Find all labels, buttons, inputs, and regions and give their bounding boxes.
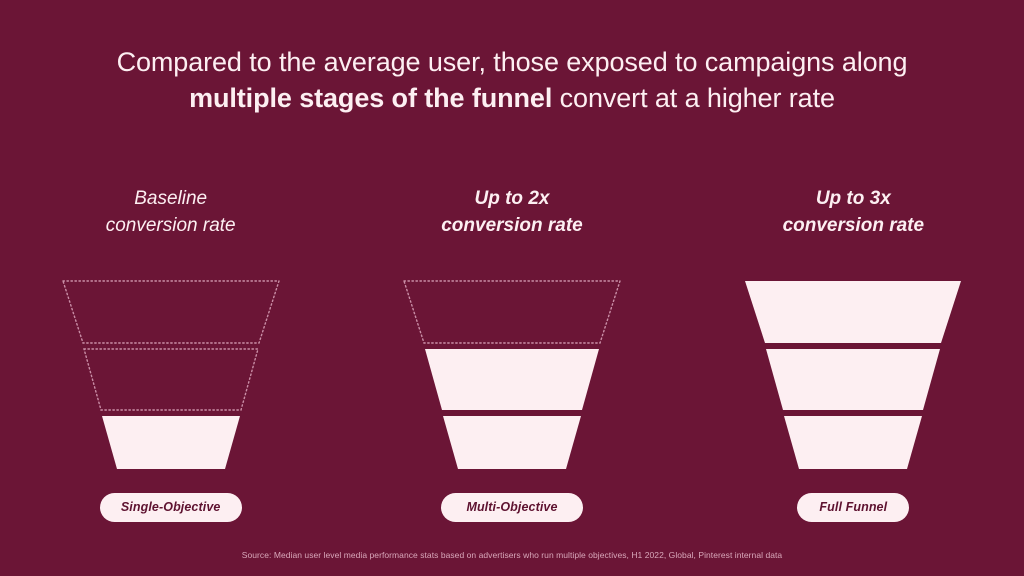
badge-multi-objective[interactable]: Multi-Objective (441, 493, 583, 522)
pill-row-baseline: Single-Objective (100, 493, 242, 522)
funnel-segment-consideration-filled (766, 349, 940, 410)
funnel-segment-awareness-outline (404, 281, 620, 343)
column-heading-baseline: Baseline conversion rate (106, 185, 236, 247)
headline-emphasis: multiple stages of the funnel (189, 83, 552, 113)
funnel-segment-awareness-filled (745, 281, 961, 343)
badge-full-funnel[interactable]: Full Funnel (797, 493, 909, 522)
badge-single-objective[interactable]: Single-Objective (100, 493, 242, 522)
funnel-column-baseline: Baseline conversion rate Single-Objectiv… (0, 185, 341, 530)
funnel-segment-consideration-outline (84, 349, 258, 410)
pill-row-up-to-2x: Multi-Objective (441, 493, 583, 522)
pill-row-up-to-3x: Full Funnel (797, 493, 909, 522)
source-footnote: Source: Median user level media performa… (0, 549, 1024, 561)
funnel-segment-consideration-filled (425, 349, 599, 410)
column-heading-up-to-2x: Up to 2x conversion rate (441, 185, 583, 247)
column-heading-up-to-3x: Up to 3x conversion rate (783, 185, 925, 247)
funnel-segment-awareness-outline (63, 281, 279, 343)
funnel-segment-conversion-filled (784, 416, 922, 469)
funnel-diagram-multi-objective (392, 279, 632, 471)
funnel-diagram-full-funnel (733, 279, 973, 471)
funnel-column-up-to-2x: Up to 2x conversion rate Multi-Objective (341, 185, 682, 530)
headline-line-1: Compared to the average user, those expo… (0, 44, 1024, 80)
page-title: Compared to the average user, those expo… (0, 44, 1024, 116)
headline-line-2: multiple stages of the funnel convert at… (0, 80, 1024, 116)
funnel-segment-conversion-filled (443, 416, 581, 469)
headline-line-2-rest: convert at a higher rate (552, 83, 835, 113)
funnel-segment-conversion-filled (102, 416, 240, 469)
slide-canvas: Compared to the average user, those expo… (0, 0, 1024, 576)
funnel-diagram-single-objective (51, 279, 291, 471)
funnel-columns: Baseline conversion rate Single-Objectiv… (0, 185, 1024, 530)
funnel-column-up-to-3x: Up to 3x conversion rate Full Funnel (683, 185, 1024, 530)
